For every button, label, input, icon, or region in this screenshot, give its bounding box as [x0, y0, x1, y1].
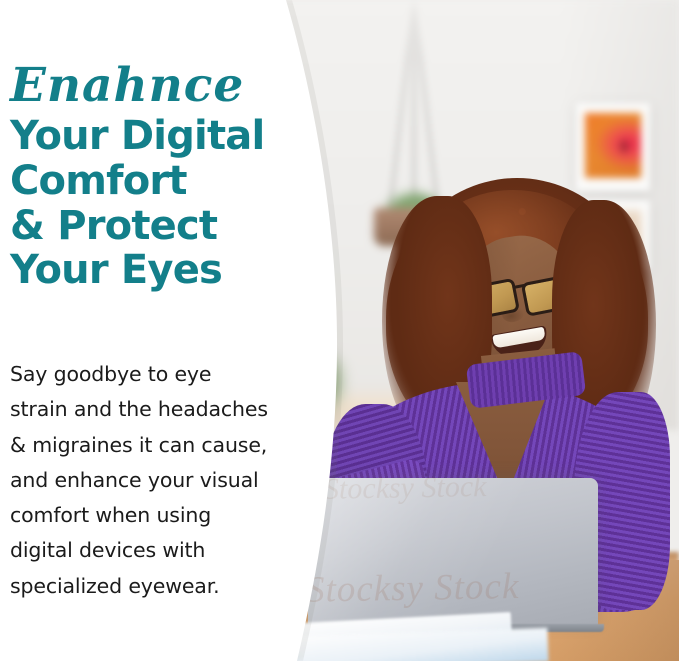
body-line: strain and the headaches — [10, 392, 302, 427]
headline-line-2: Comfort — [10, 159, 310, 204]
body-line: Say goodbye to eye — [10, 357, 302, 392]
laptop — [308, 478, 598, 628]
body-line: comfort when using — [10, 498, 302, 533]
headline: Enahnce Your Digital Comfort & Protect Y… — [10, 62, 310, 293]
headline-line-1: Your Digital — [10, 114, 310, 159]
laptop-sheen — [308, 478, 598, 628]
body-line: and enhance your visual — [10, 463, 302, 498]
advertisement-banner: Stocksy Stock Stocksy Stock Enahnce Your… — [0, 0, 679, 661]
body-line: specialized eyewear. — [10, 569, 302, 604]
headline-line-3: & Protect — [10, 204, 310, 249]
headline-line-4: Your Eyes — [10, 248, 310, 293]
body-line: digital devices with — [10, 533, 302, 568]
headline-script-word: Enahnce — [10, 62, 310, 109]
body-line: & migraines it can cause, — [10, 428, 302, 463]
body-copy: Say goodbye to eye strain and the headac… — [10, 357, 302, 604]
